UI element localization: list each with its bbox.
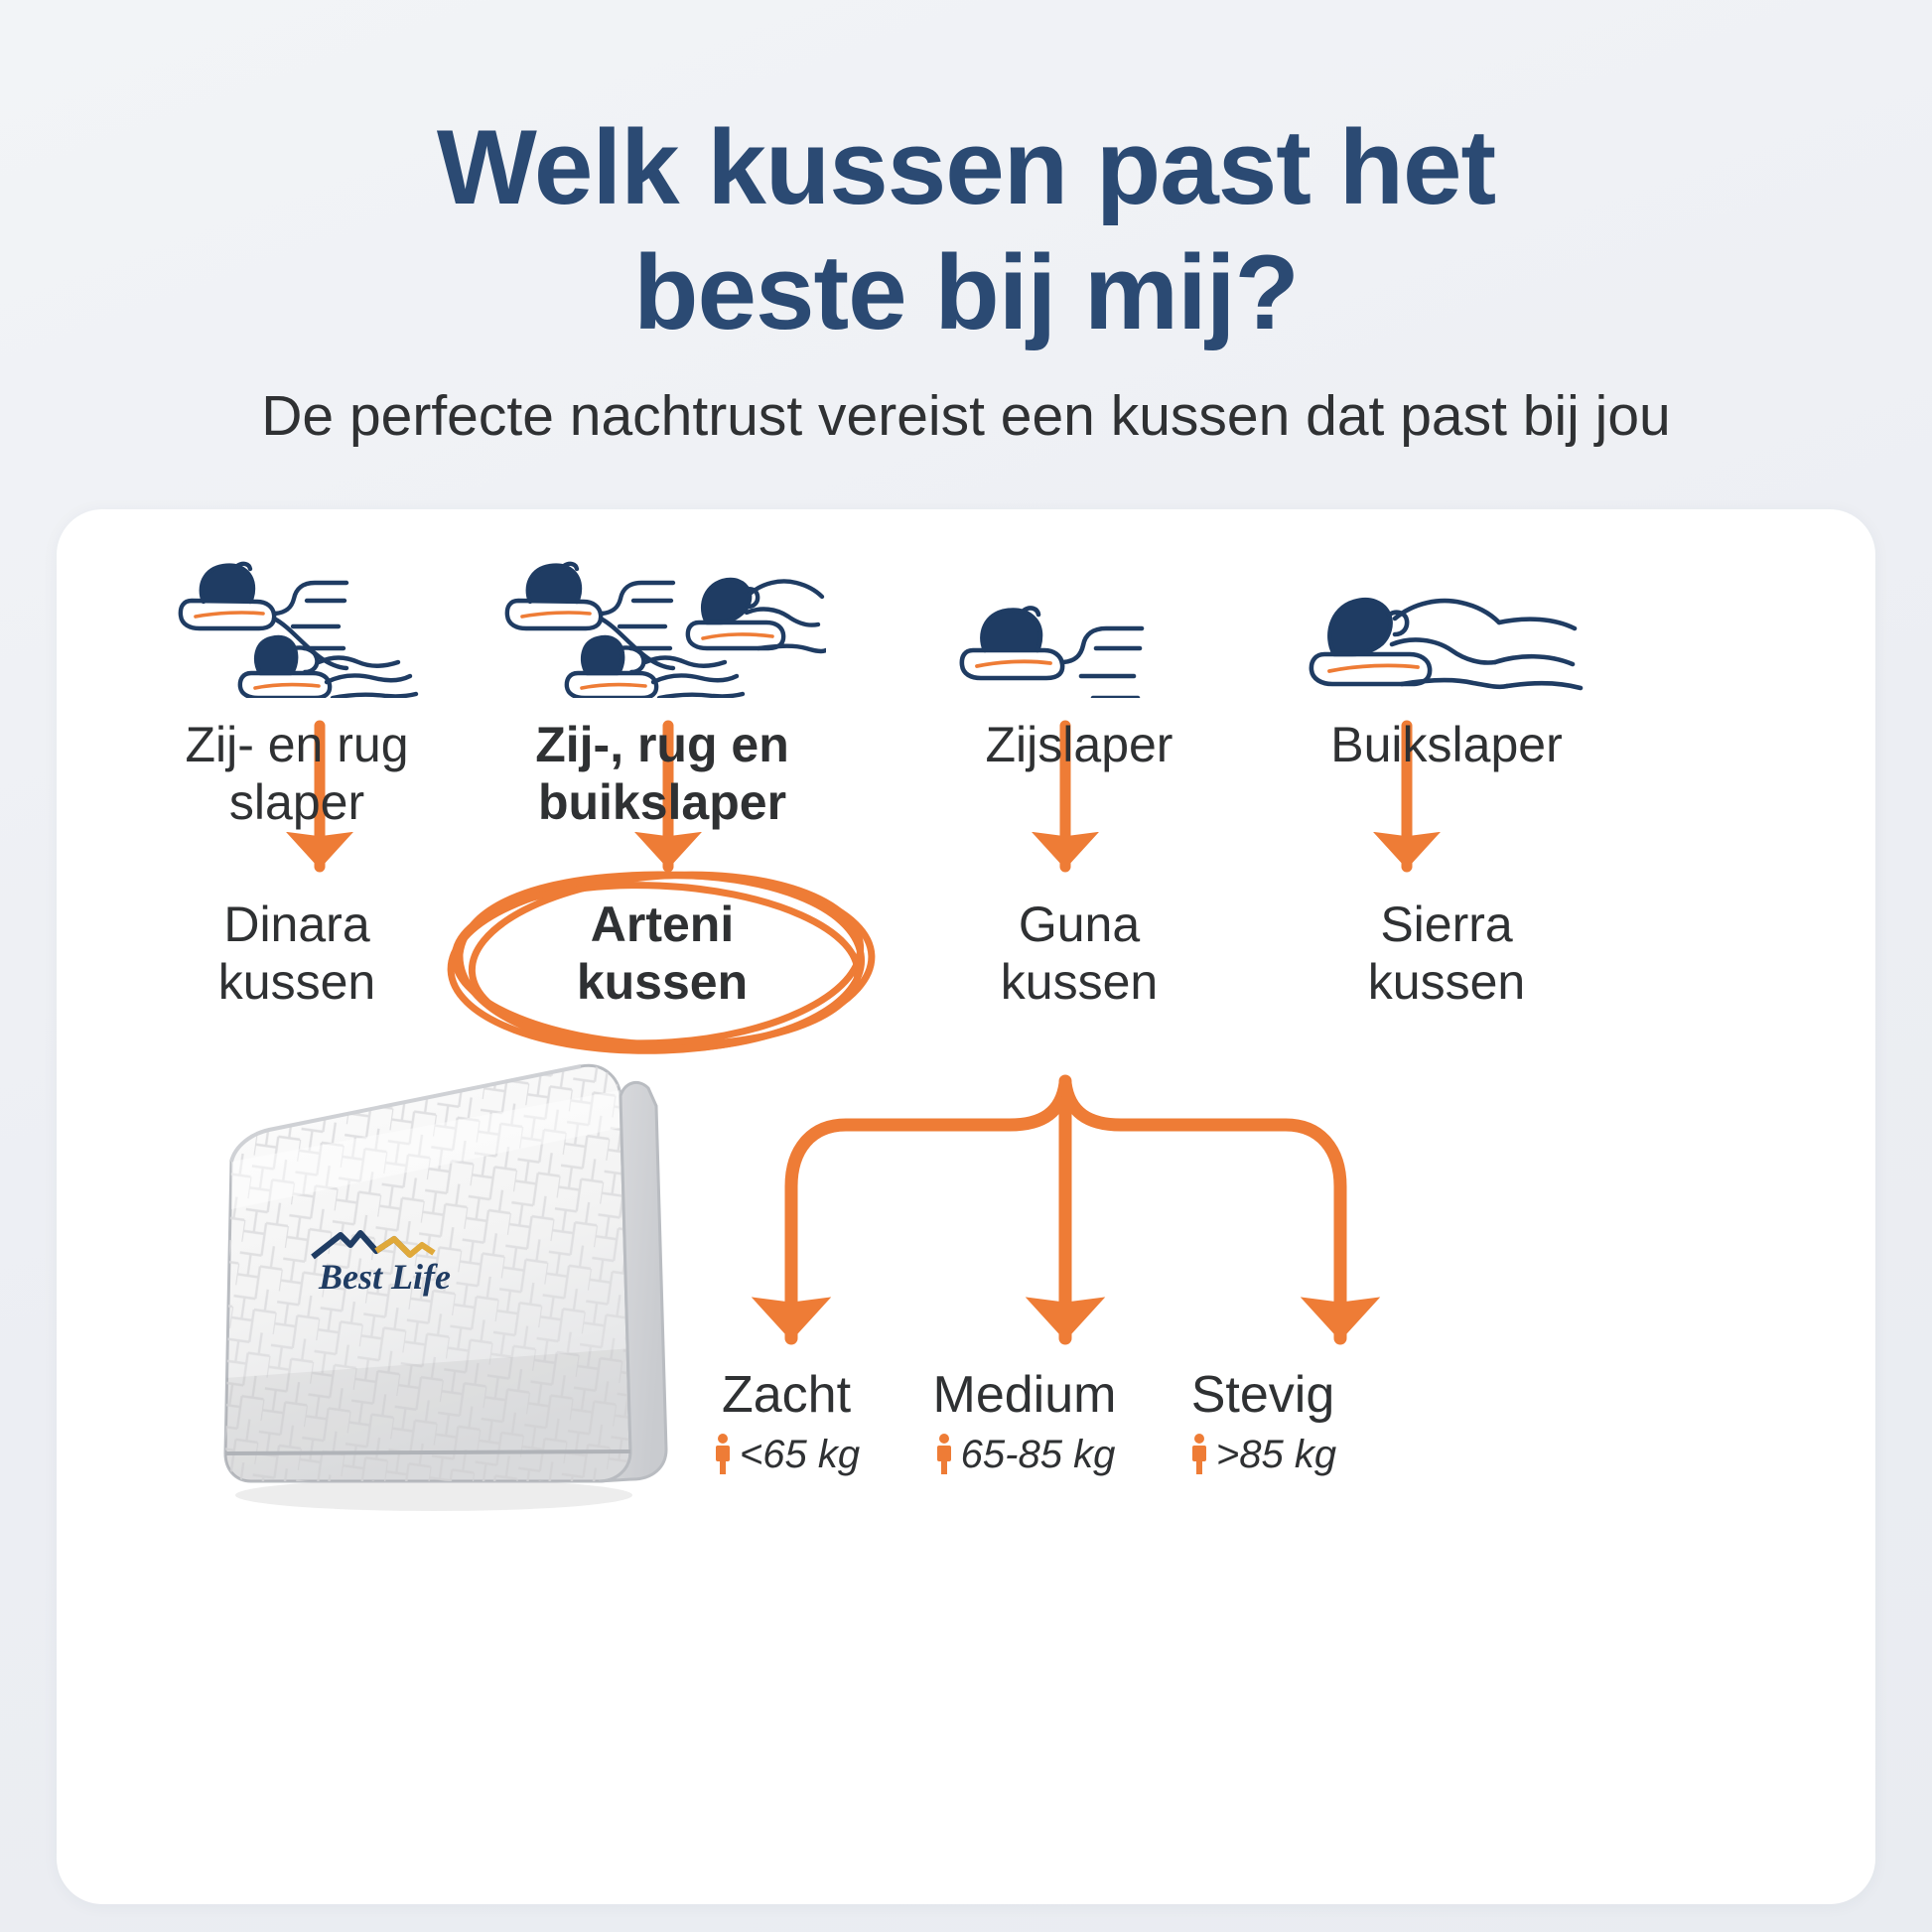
product-name-dinara[interactable]: Dinara kussen	[108, 896, 485, 1011]
bracket-branch-left	[791, 1083, 1065, 1338]
sleeper-column-side-and-back: Zij- en rug slaper	[108, 509, 485, 831]
sleeper-label: Zij-, rug en buikslaper	[454, 716, 871, 831]
side-sleeper-icon	[891, 509, 1268, 698]
title-line-2: beste bij mij?	[0, 229, 1932, 354]
content-card: Zij- en rug slaper	[57, 509, 1875, 1904]
person-icon	[934, 1433, 954, 1476]
firmness-weight: 65-85 kg	[891, 1433, 1159, 1477]
sleeper-label: Zij- en rug slaper	[108, 716, 485, 831]
firmness-weight-text: >85 kg	[1216, 1433, 1336, 1477]
person-icon	[713, 1433, 733, 1476]
sleeper-label: Zijslaper	[891, 716, 1268, 773]
page-subtitle: De perfecte nachtrust vereist een kussen…	[0, 382, 1932, 450]
product-name-sierra[interactable]: Sierra kussen	[1228, 896, 1665, 1011]
firmness-weight: <65 kg	[672, 1433, 900, 1477]
firmness-name: Medium	[891, 1368, 1159, 1423]
firmness-weight-text: 65-85 kg	[961, 1433, 1116, 1477]
stomach-sleeper-icon	[1228, 509, 1665, 698]
title-line-1: Welk kussen past het	[0, 104, 1932, 229]
sleeper-column-side: Zijslaper	[891, 509, 1268, 773]
bracket-branch-right	[1065, 1083, 1340, 1338]
infographic-page: Welk kussen past het beste bij mij? De p…	[0, 0, 1932, 1932]
firmness-option-zacht[interactable]: Zacht <65 kg	[672, 1368, 900, 1477]
firmness-weight: >85 kg	[1149, 1433, 1377, 1477]
side-and-back-sleeper-icon	[108, 509, 485, 698]
page-title: Welk kussen past het beste bij mij?	[0, 104, 1932, 355]
firmness-option-stevig[interactable]: Stevig >85 kg	[1149, 1368, 1377, 1477]
side-back-and-stomach-sleeper-icon	[454, 509, 871, 698]
person-icon	[1189, 1433, 1209, 1476]
product-name-guna[interactable]: Guna kussen	[891, 896, 1268, 1011]
firmness-option-medium[interactable]: Medium 65-85 kg	[891, 1368, 1159, 1477]
svg-text:Best Life: Best Life	[318, 1257, 451, 1297]
firmness-weight-text: <65 kg	[740, 1433, 860, 1477]
sleeper-label: Buikslaper	[1228, 716, 1665, 773]
arteni-pillow-photo: Best Life	[136, 1050, 692, 1547]
sleeper-column-side-back-stomach: Zij-, rug en buikslaper	[454, 509, 871, 831]
product-name-arteni[interactable]: Arteni kussen	[454, 896, 871, 1011]
firmness-name: Stevig	[1149, 1368, 1377, 1423]
sleeper-column-stomach: Buikslaper	[1228, 509, 1665, 773]
firmness-name: Zacht	[672, 1368, 900, 1423]
